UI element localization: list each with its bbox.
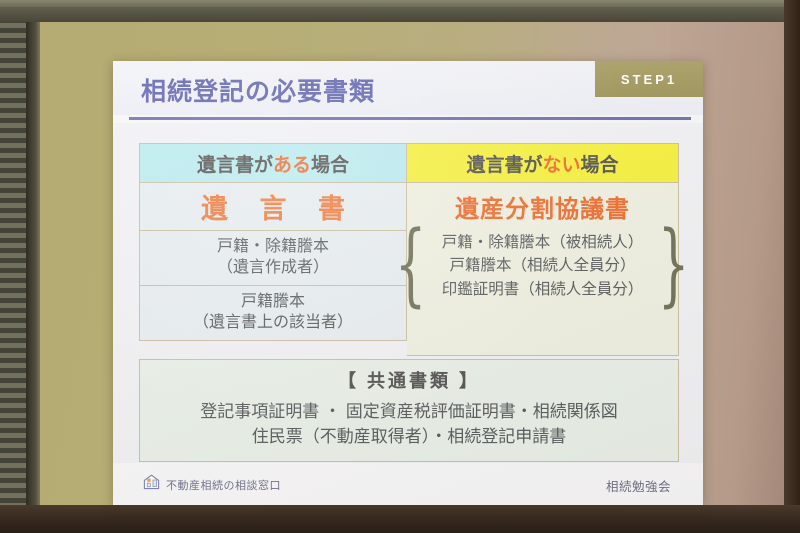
brace-close-icon: }	[658, 233, 689, 298]
header-left-highlight: ある	[273, 150, 311, 177]
table-header-without-will: 遺言書がない場合	[407, 143, 679, 183]
header-left-suffix: 場合	[311, 150, 349, 177]
left-row-2-line-2: （遺言書上の該当者）	[144, 312, 402, 333]
right-item-3: 印鑑証明書（相続人全員分）	[442, 278, 644, 301]
column-with-will: 遺 言 書 戸籍・除籍謄本 （遺言作成者） 戸籍謄本 （遺言書上の該当者）	[139, 183, 407, 356]
left-row-1-line-1: 戸籍・除籍謄本	[144, 236, 402, 257]
header-right-prefix: 遺言書が	[466, 150, 542, 177]
slide-footer: 不動産相続の相談窓口 相続勉強会	[113, 463, 703, 505]
footer-organizer-text: 相続勉強会	[606, 476, 671, 495]
right-column-cell: 遺産分割協議書 { 戸籍・除籍謄本（被相続人） 戸籍謄本（相続人全員分） 印鑑証…	[407, 183, 679, 356]
table-header-with-will: 遺言書がある場合	[139, 143, 407, 183]
brand-logo-text: 不動産相続の相談窓口	[166, 477, 281, 493]
column-without-will: 遺産分割協議書 { 戸籍・除籍謄本（被相続人） 戸籍謄本（相続人全員分） 印鑑証…	[407, 183, 679, 356]
ceiling-frame-highlight	[0, 0, 800, 7]
blinds-edge	[26, 18, 40, 533]
brand-logo: 不動産相続の相談窓口	[143, 474, 281, 495]
common-documents-panel: 【 共通書類 】 登記事項証明書 ・ 固定資産税評価証明書・相続関係図 住民票（…	[139, 359, 679, 462]
frame-right-edge	[784, 0, 800, 533]
left-row-1-line-2: （遺言作成者）	[144, 257, 402, 278]
house-icon	[143, 474, 160, 495]
right-item-2: 戸籍謄本（相続人全員分）	[442, 254, 644, 277]
table-header-row: 遺言書がある場合 遺言書がない場合	[139, 143, 679, 183]
common-documents-line-2: 住民票（不動産取得者）・相続登記申請書	[140, 425, 678, 450]
slide-title-band: 相続登記の必要書類 STEP1	[113, 61, 703, 115]
common-documents-title: 【 共通書類 】	[140, 367, 678, 393]
table-row: 戸籍謄本 （遺言書上の該当者）	[139, 286, 407, 341]
right-main-document: 遺産分割協議書	[407, 183, 678, 224]
left-main-document: 遺 言 書	[139, 183, 407, 231]
right-item-1: 戸籍・除籍謄本（被相続人）	[442, 231, 644, 254]
slide: 相続登記の必要書類 STEP1 遺言書がある場合 遺言書がない場合	[113, 61, 703, 505]
braced-document-list: { 戸籍・除籍謄本（被相続人） 戸籍謄本（相続人全員分） 印鑑証明書（相続人全員…	[421, 231, 664, 301]
left-row-2-line-1: 戸籍謄本	[144, 291, 402, 312]
header-right-suffix: 場合	[581, 150, 619, 177]
slide-body: 遺言書がある場合 遺言書がない場合 遺 言 書	[113, 123, 703, 505]
header-right-highlight: ない	[542, 150, 580, 177]
page-title: 相続登記の必要書類	[141, 72, 375, 108]
common-documents-line-1: 登記事項証明書 ・ 固定資産税評価証明書・相続関係図	[140, 400, 678, 425]
title-divider	[129, 117, 691, 120]
documents-table: 遺言書がある場合 遺言書がない場合 遺 言 書	[139, 143, 679, 356]
header-left-prefix: 遺言書が	[197, 150, 273, 177]
frame-bottom-edge	[0, 505, 800, 533]
table-row: 戸籍・除籍謄本 （遺言作成者）	[139, 231, 407, 286]
table-content-row: 遺 言 書 戸籍・除籍謄本 （遺言作成者） 戸籍謄本 （遺言書上の該当者）	[139, 183, 679, 356]
right-document-items: 戸籍・除籍謄本（被相続人） 戸籍謄本（相続人全員分） 印鑑証明書（相続人全員分）	[440, 231, 646, 301]
photograph-of-projected-slide: 相続登記の必要書類 STEP1 遺言書がある場合 遺言書がない場合	[0, 0, 800, 533]
brace-open-icon: {	[395, 233, 426, 298]
status-badge: STEP1	[595, 61, 703, 97]
